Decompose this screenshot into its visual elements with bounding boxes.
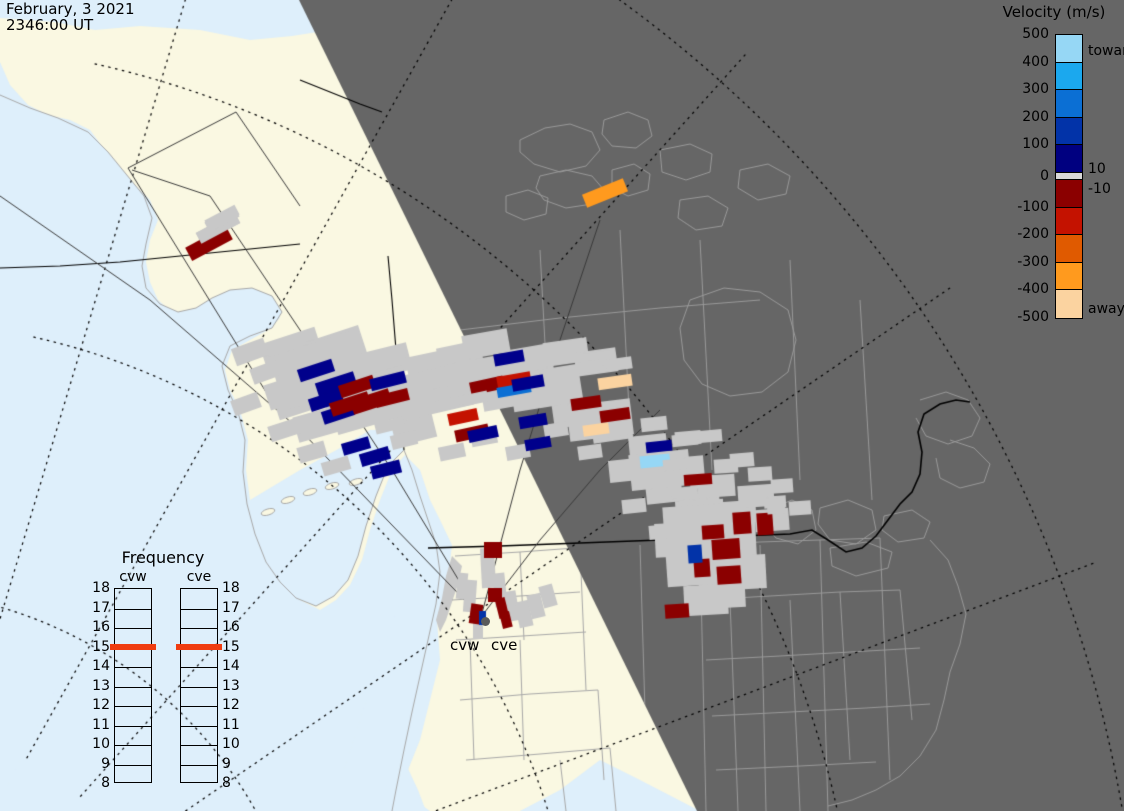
velocity-band-9 — [1056, 263, 1082, 291]
velocity-band-3 — [1056, 118, 1082, 146]
frequency-gridline — [115, 628, 151, 629]
velocity-away-label: away — [1088, 302, 1124, 316]
frequency-column-cve-name: cve — [180, 569, 218, 585]
velocity-tick-500: 500 — [991, 27, 1049, 41]
frequency-gridline — [181, 765, 217, 766]
frequency-label-right-15: 15 — [222, 640, 244, 654]
timestamp: February, 3 2021 2346:00 UT — [6, 1, 135, 33]
velocity-tick-0: 0 — [991, 169, 1049, 183]
frequency-legend: Frequency cvw cve 1818171716161515141413… — [88, 548, 238, 783]
velocity-band-5 — [1056, 173, 1082, 180]
frequency-gridline — [115, 745, 151, 746]
velocity-tick-100: 100 — [991, 137, 1049, 151]
frequency-label-right-11: 11 — [222, 718, 244, 732]
frequency-label-right-9: 9 — [222, 757, 244, 771]
frequency-label-left-13: 13 — [88, 679, 110, 693]
frequency-scale-cve — [180, 588, 218, 783]
frequency-scale-cvw — [114, 588, 152, 783]
radar-site-label-cvw: cvw — [450, 636, 479, 654]
velocity-colorbar-bar — [1055, 34, 1083, 319]
frequency-label-left-8: 8 — [88, 776, 110, 790]
radar-site-label-cve: cve — [491, 636, 517, 654]
velocity-tick--200: -200 — [991, 227, 1049, 241]
velocity-band-2 — [1056, 90, 1082, 118]
frequency-label-right-17: 17 — [222, 601, 244, 615]
frequency-label-left-11: 11 — [88, 718, 110, 732]
frequency-column-cvw: cvw — [114, 588, 152, 783]
radar-site-marker — [481, 617, 490, 626]
frequency-column-cve: cve — [180, 588, 218, 783]
frequency-label-left-15: 15 — [88, 640, 110, 654]
frequency-label-left-16: 16 — [88, 620, 110, 634]
frequency-gridline — [181, 667, 217, 668]
velocity-band-8 — [1056, 235, 1082, 263]
frequency-legend-title: Frequency — [88, 548, 238, 567]
frequency-column-cvw-name: cvw — [114, 569, 152, 585]
frequency-label-left-10: 10 — [88, 737, 110, 751]
velocity-colorbar-title: Velocity (m/s) — [985, 3, 1123, 21]
frequency-label-left-12: 12 — [88, 698, 110, 712]
frequency-marker-cve — [176, 644, 222, 650]
frequency-label-right-14: 14 — [222, 659, 244, 673]
frequency-gridline — [115, 667, 151, 668]
frequency-label-left-9: 9 — [88, 757, 110, 771]
velocity-tick--300: -300 — [991, 255, 1049, 269]
frequency-gridline — [115, 687, 151, 688]
velocity-band-1 — [1056, 63, 1082, 91]
frequency-gridline — [115, 765, 151, 766]
velocity-tick--500: -500 — [991, 310, 1049, 324]
frequency-label-right-16: 16 — [222, 620, 244, 634]
frequency-gridline — [115, 609, 151, 610]
velocity-band-0 — [1056, 35, 1082, 63]
velocity-inner-high-label: 10 — [1088, 162, 1106, 176]
frequency-label-right-10: 10 — [222, 737, 244, 751]
velocity-band-6 — [1056, 180, 1082, 208]
velocity-band-4 — [1056, 145, 1082, 173]
velocity-tick--400: -400 — [991, 282, 1049, 296]
fan-plot-figure: February, 3 2021 2346:00 UT Velocity (m/… — [0, 0, 1124, 811]
frequency-gridline — [115, 706, 151, 707]
frequency-label-left-17: 17 — [88, 601, 110, 615]
velocity-tick-300: 300 — [991, 82, 1049, 96]
frequency-gridline — [181, 726, 217, 727]
frequency-gridline — [181, 628, 217, 629]
velocity-band-10 — [1056, 290, 1082, 318]
velocity-tick-400: 400 — [991, 55, 1049, 69]
frequency-gridline — [181, 687, 217, 688]
velocity-tick-200: 200 — [991, 110, 1049, 124]
frequency-gridline — [115, 726, 151, 727]
velocity-colorbar: Velocity (m/s) 5004003002001000-100-200-… — [984, 0, 1124, 330]
frequency-gridline — [181, 609, 217, 610]
frequency-label-left-14: 14 — [88, 659, 110, 673]
frequency-label-right-18: 18 — [222, 581, 244, 595]
frequency-label-right-12: 12 — [222, 698, 244, 712]
velocity-toward-label: toward — [1088, 44, 1124, 58]
frequency-label-right-13: 13 — [222, 679, 244, 693]
velocity-inner-low-label: -10 — [1088, 182, 1111, 196]
timestamp-time: 2346:00 UT — [6, 16, 93, 34]
frequency-gridline — [181, 706, 217, 707]
frequency-gridline — [181, 745, 217, 746]
frequency-label-right-8: 8 — [222, 776, 244, 790]
velocity-band-7 — [1056, 208, 1082, 236]
velocity-tick--100: -100 — [991, 200, 1049, 214]
frequency-label-left-18: 18 — [88, 581, 110, 595]
frequency-marker-cvw — [110, 644, 156, 650]
